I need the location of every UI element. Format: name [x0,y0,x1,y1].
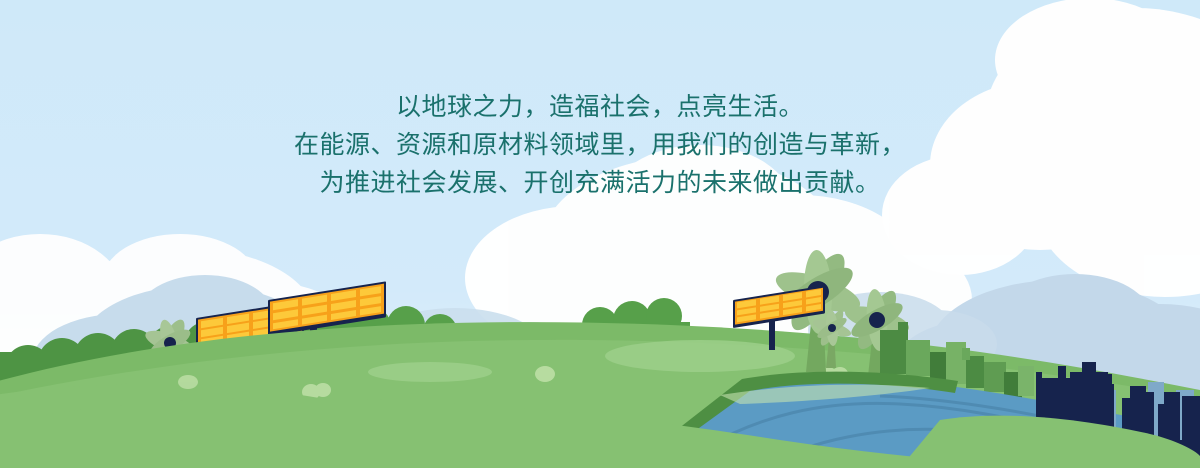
landscape-illustration [0,0,1200,468]
eco-energy-banner: 以地球之力，造福社会，点亮生活。 在能源、资源和原材料领域里，用我们的创造与革新… [0,0,1200,468]
